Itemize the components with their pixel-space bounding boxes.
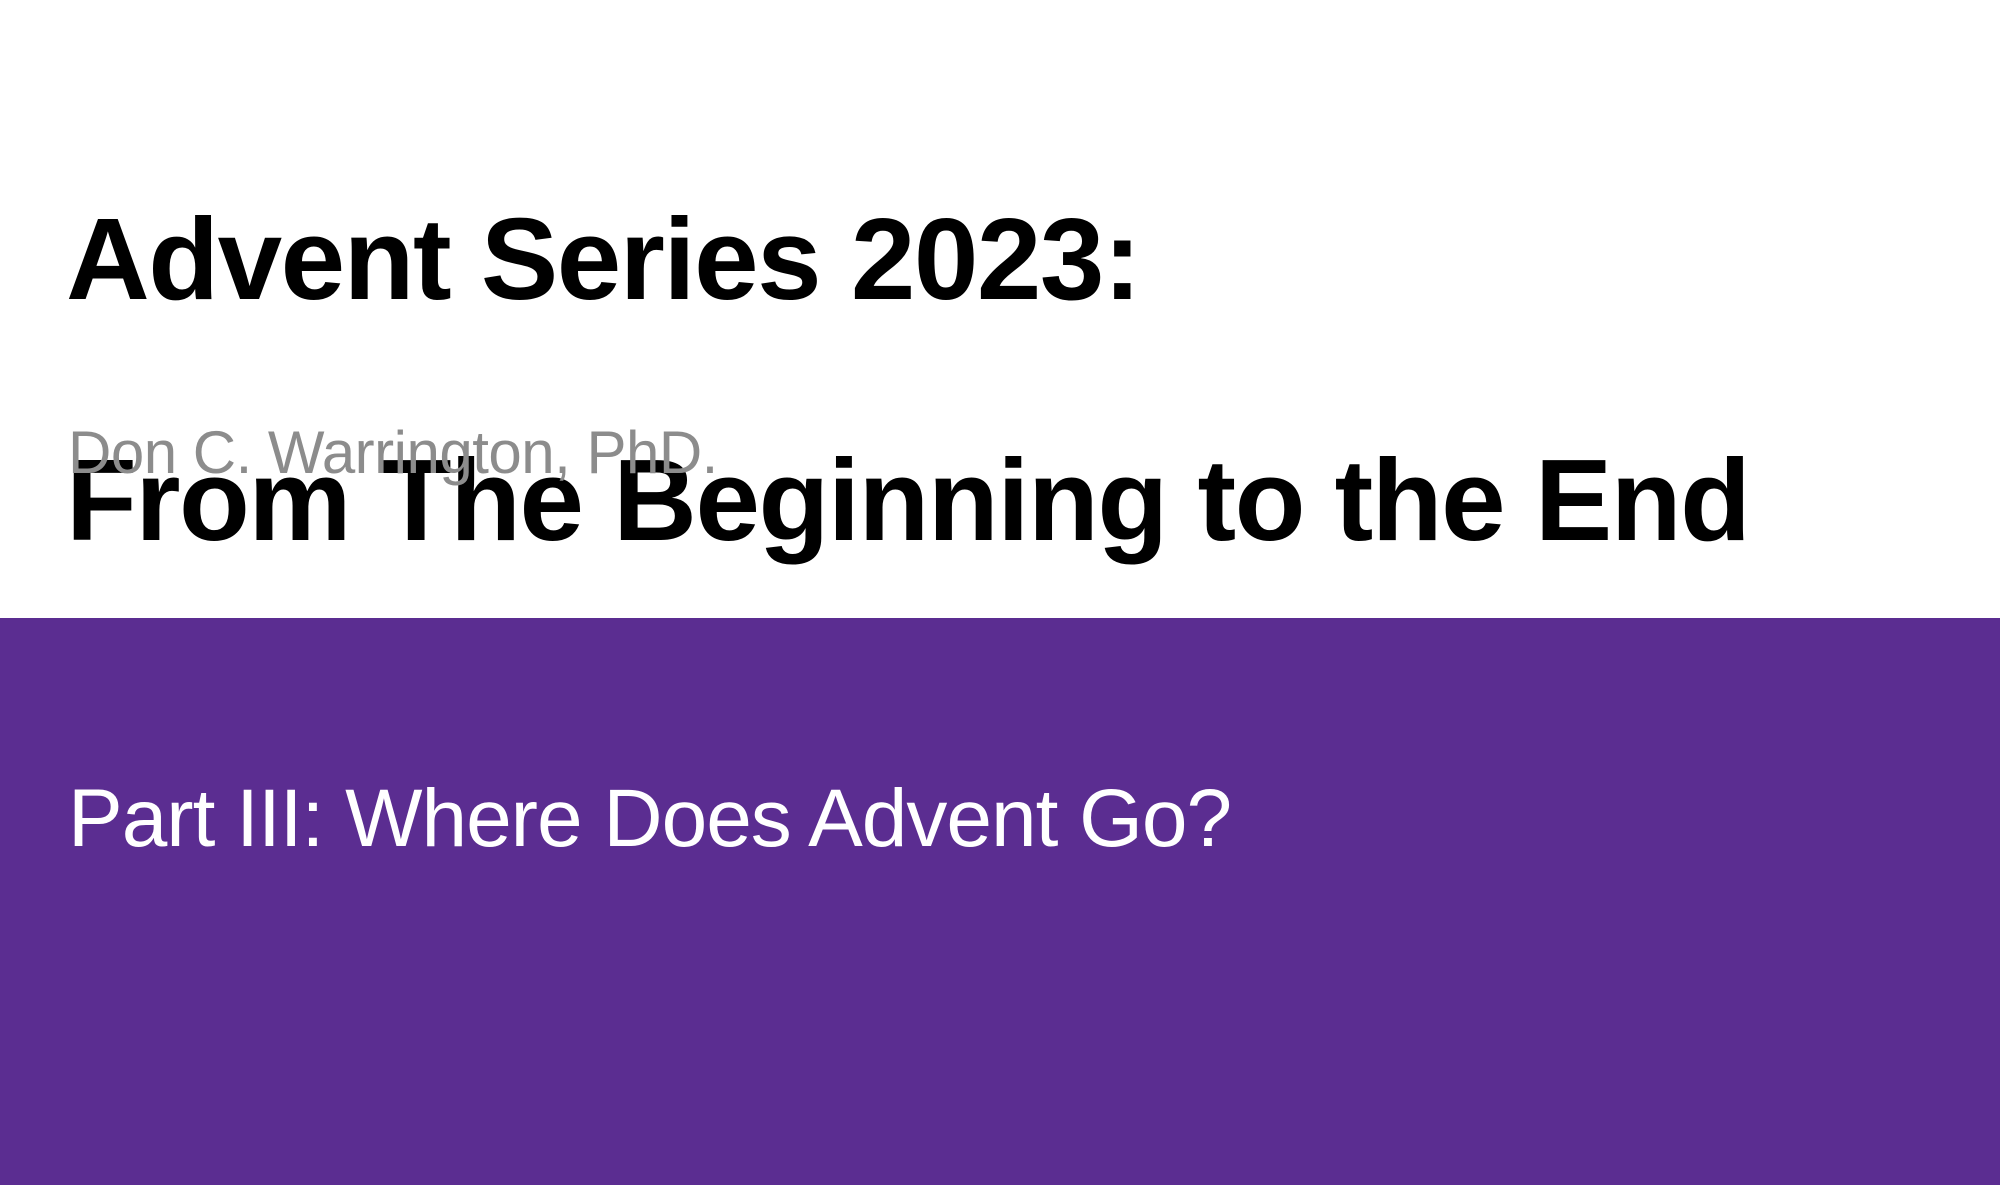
bottom-white-strip bbox=[0, 1185, 2000, 1200]
title-slide: Advent Series 2023: From The Beginning t… bbox=[0, 0, 2000, 1200]
slide-title-line-1: Advent Series 2023: bbox=[66, 199, 1956, 320]
slide-title: Advent Series 2023: From The Beginning t… bbox=[66, 78, 1956, 681]
title-block: Advent Series 2023: From The Beginning t… bbox=[0, 0, 2000, 618]
slide-author: Don C. Warrington, PhD. bbox=[68, 420, 718, 486]
section-band: Part III: Where Does Advent Go? bbox=[0, 618, 2000, 1185]
section-heading: Part III: Where Does Advent Go? bbox=[68, 773, 1231, 865]
